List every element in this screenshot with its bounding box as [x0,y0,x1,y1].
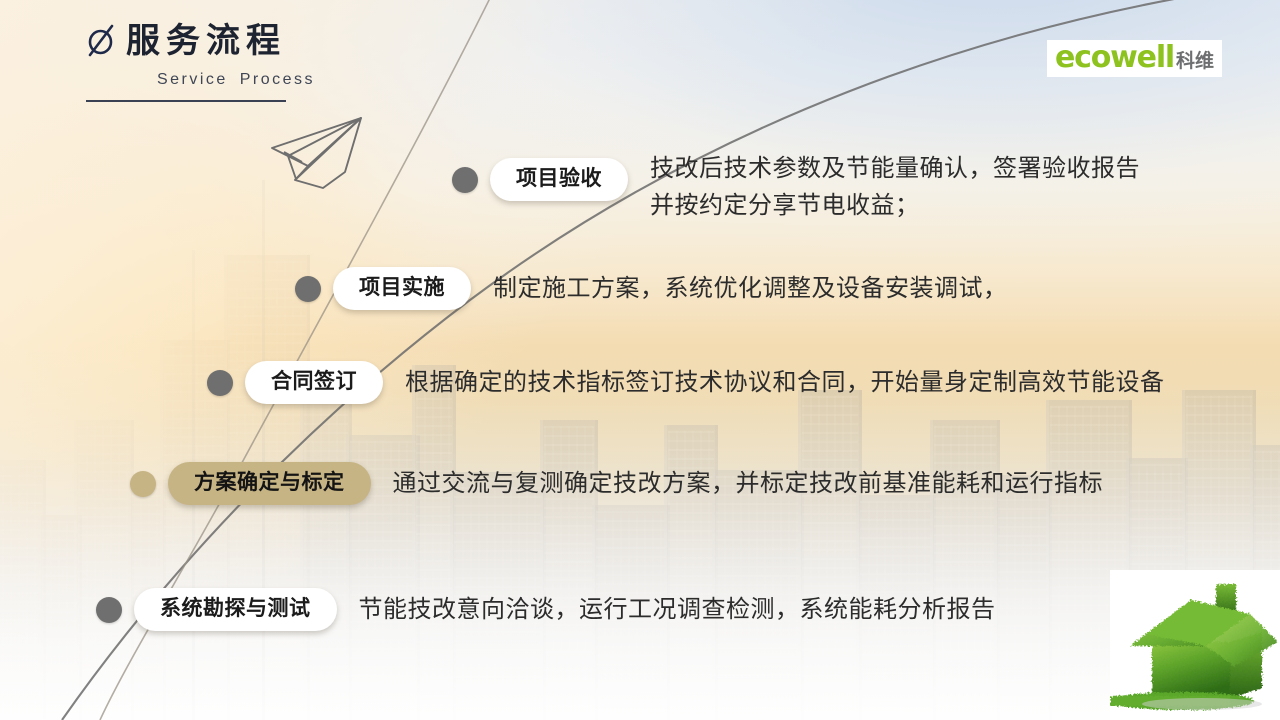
step-label[interactable]: 项目实施 [333,267,471,310]
step-plan-confirmation[interactable]: 方案确定与标定 通过交流与复测确定技改方案，并标定技改前基准能耗和运行指标 [130,462,1103,505]
step-system-survey[interactable]: 系统勘探与测试 节能技改意向洽谈，运行工况调查检测，系统能耗分析报告 [96,588,996,631]
step-node-dot [295,276,321,302]
step-label[interactable]: 方案确定与标定 [168,462,371,505]
step-project-implementation[interactable]: 项目实施 制定施工方案，系统优化调整及设备安装调试， [295,267,1008,310]
page-title: 服务流程 [126,24,286,58]
step-label[interactable]: 项目验收 [490,158,628,201]
step-contract-signing[interactable]: 合同签订 根据确定的技术指标签订技术协议和合同，开始量身定制高效节能设备 [207,361,1165,404]
step-description: 技改后技术参数及节能量确认，签署验收报告 并按约定分享节电收益； [650,150,1140,224]
title-divider [86,100,286,102]
step-node-dot [96,597,122,623]
green-house-image-card [1110,570,1280,720]
step-project-acceptance[interactable]: 项目验收 技改后技术参数及节能量确认，签署验收报告 并按约定分享节电收益； [452,158,1140,224]
step-label[interactable]: 系统勘探与测试 [134,588,337,631]
logo-wordmark-en: ecowell [1055,43,1174,73]
step-description: 节能技改意向洽谈，运行工况调查检测，系统能耗分析报告 [359,591,996,628]
step-description: 制定施工方案，系统优化调整及设备安装调试， [493,270,1008,307]
page-subtitle: Service Process [86,71,386,89]
ecowell-logo: ecowell 科维 [1047,40,1222,77]
step-node-dot [130,471,156,497]
step-description: 通过交流与复测确定技改方案，并标定技改前基准能耗和运行指标 [393,465,1104,502]
green-grass-house-icon [1110,570,1280,720]
page-title-block: 服务流程 Service Process [86,24,386,102]
step-node-dot [207,370,233,396]
logo-wordmark-cn: 科维 [1176,52,1214,71]
slide-service-process: 服务流程 Service Process ecowell 科维 项目验收 技改后… [0,0,1280,720]
null-slashed-circle-icon [86,24,116,58]
step-label[interactable]: 合同签订 [245,361,383,404]
step-node-dot [452,167,478,193]
step-description: 根据确定的技术指标签订技术协议和合同，开始量身定制高效节能设备 [405,364,1165,401]
